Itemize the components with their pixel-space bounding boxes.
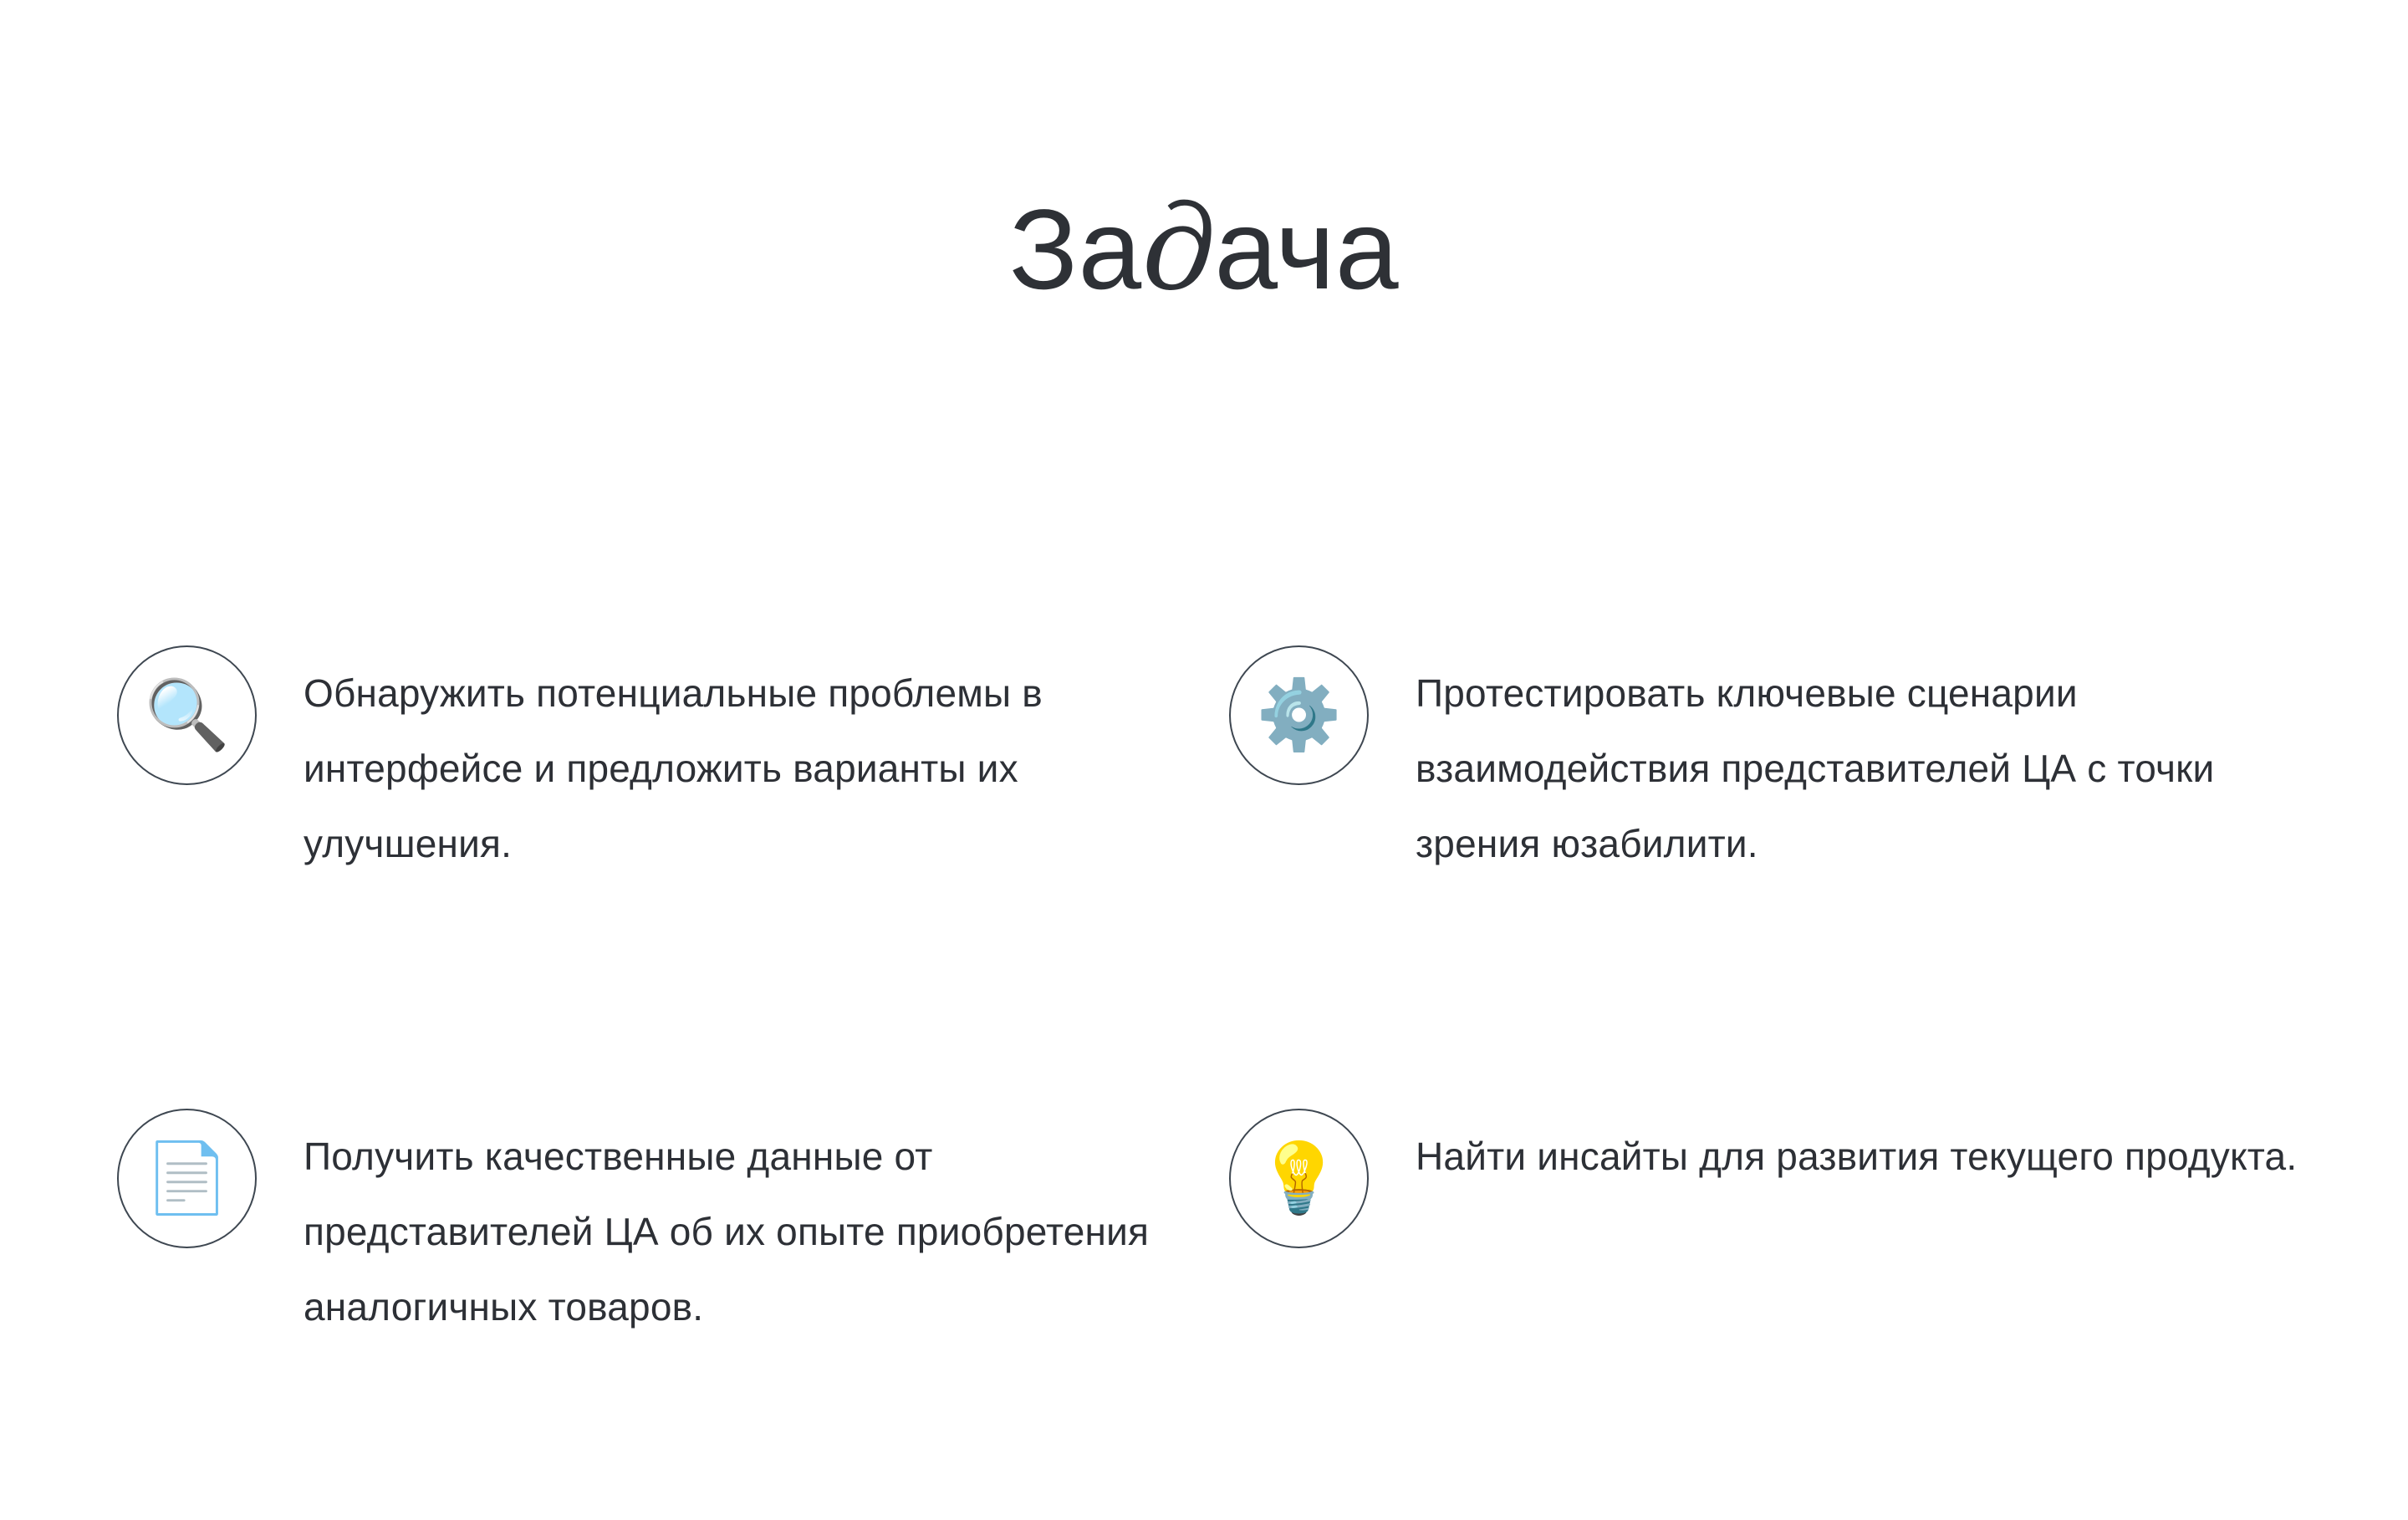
objective-item-collect: 📄 Получить качественные данные от предст… <box>117 1109 1229 1344</box>
magnifying-glass-glyph: 🔍 <box>144 681 229 750</box>
title-part-before: За <box>1009 186 1142 313</box>
light-bulb-icon: 💡 <box>1229 1109 1369 1248</box>
page-document-icon: 📄 <box>117 1109 257 1248</box>
page-title: Задача <box>0 191 2408 308</box>
objective-text-discover: Обнаружить потенциальные проблемы в инте… <box>304 645 1229 881</box>
objective-item-test: ⚙️ Протестировать ключевые сценарии взаи… <box>1229 645 2308 881</box>
title-part-after: ача <box>1214 186 1399 313</box>
title-script-letter: д <box>1142 181 1215 317</box>
objective-text-test: Протестировать ключевые сценарии взаимод… <box>1416 645 2308 881</box>
objective-text-collect: Получить качественные данные от представ… <box>304 1109 1229 1344</box>
objective-item-discover: 🔍 Обнаружить потенциальные проблемы в ин… <box>117 645 1229 881</box>
magnifying-glass-icon: 🔍 <box>117 645 257 785</box>
gear-icon: ⚙️ <box>1229 645 1369 785</box>
objective-text-insights: Найти инсайты для развития текущего прод… <box>1416 1109 2308 1194</box>
objectives-grid: 🔍 Обнаружить потенциальные проблемы в ин… <box>117 645 2308 1344</box>
gear-glyph: ⚙️ <box>1256 681 1341 750</box>
objective-item-insights: 💡 Найти инсайты для развития текущего пр… <box>1229 1109 2308 1344</box>
light-bulb-glyph: 💡 <box>1256 1145 1341 1213</box>
page-document-glyph: 📄 <box>144 1145 229 1213</box>
